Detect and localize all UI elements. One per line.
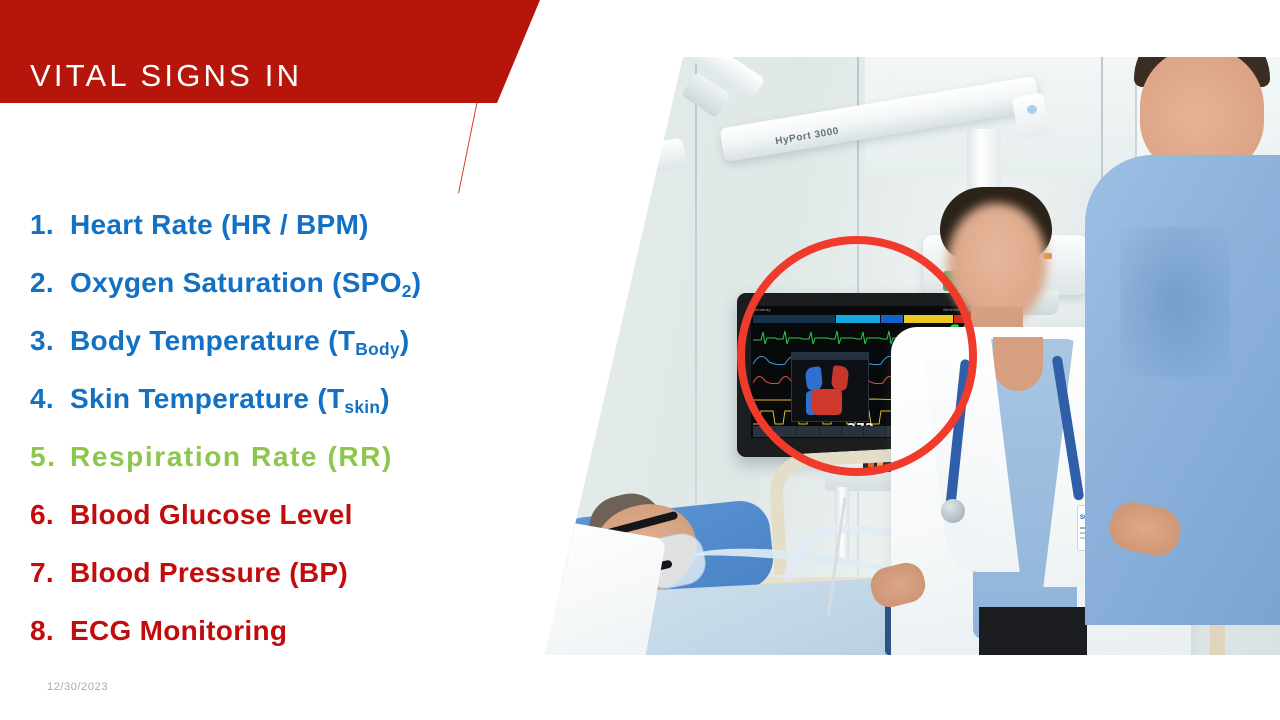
list-label-main: Skin Temperature (T bbox=[70, 383, 344, 414]
list-number: 7. bbox=[30, 544, 70, 602]
red-circle-annotation bbox=[737, 236, 977, 476]
list-label: Respiration Rate (RR) bbox=[70, 428, 393, 486]
list-number: 6. bbox=[30, 486, 70, 544]
list-number: 2. bbox=[30, 254, 70, 312]
list-label: ECG Monitoring bbox=[70, 602, 287, 660]
doctor-open-collar bbox=[993, 337, 1043, 391]
title-line-1: VITAL SIGNS IN bbox=[30, 58, 302, 93]
list-item-blood-pressure[interactable]: 7. Blood Pressure (BP) bbox=[30, 544, 550, 602]
list-label: Oxygen Saturation (SPO2) bbox=[70, 254, 421, 315]
list-label: Blood Pressure (BP) bbox=[70, 544, 348, 602]
list-item-skin-temperature[interactable]: 4. Skin Temperature (Tskin) bbox=[30, 370, 550, 428]
list-number: 5. bbox=[30, 428, 70, 486]
list-label-tail: ) bbox=[400, 325, 410, 356]
list-label: Skin Temperature (Tskin) bbox=[70, 370, 390, 431]
list-item-blood-glucose-level[interactable]: 6. Blood Glucose Level bbox=[30, 486, 550, 544]
scrubs-shading bbox=[1120, 227, 1230, 377]
list-label-subscript: 2 bbox=[402, 281, 412, 301]
list-label-tail: ) bbox=[412, 267, 422, 298]
page-title: VITAL SIGNS IN PATIENT MONITORING bbox=[30, 16, 423, 176]
list-item-oxygen-saturation[interactable]: 2. Oxygen Saturation (SPO2) bbox=[30, 254, 550, 312]
slide-date: 12/30/2023 bbox=[47, 681, 108, 693]
pendant-arm-endcap bbox=[559, 159, 569, 169]
list-label-main: Body Temperature (T bbox=[70, 325, 355, 356]
list-number: 8. bbox=[30, 602, 70, 660]
list-number: 1. bbox=[30, 196, 70, 254]
slide-root: VITAL SIGNS IN PATIENT MONITORING 1. Hea… bbox=[0, 0, 1280, 720]
list-item-respiration-rate[interactable]: 5. Respiration Rate (RR) bbox=[30, 428, 550, 486]
list-label: Body Temperature (TBody) bbox=[70, 312, 409, 373]
list-label-main: Oxygen Saturation (SPO bbox=[70, 267, 402, 298]
diagonal-accent-line bbox=[458, 100, 478, 193]
list-item-ecg-monitoring[interactable]: 8. ECG Monitoring bbox=[30, 602, 550, 660]
doctor-trousers bbox=[979, 607, 1087, 655]
list-label: Heart Rate (HR / BPM) bbox=[70, 196, 369, 254]
pendant-indicator-dot bbox=[1027, 105, 1037, 114]
list-label-subscript: skin bbox=[344, 397, 380, 417]
list-number: 3. bbox=[30, 312, 70, 370]
list-label-subscript: Body bbox=[355, 339, 400, 359]
vitals-list: 1. Heart Rate (HR / BPM) 2. Oxygen Satur… bbox=[30, 196, 550, 660]
clinician-blue-scrubs bbox=[1085, 155, 1280, 625]
foreground-clinician bbox=[1100, 57, 1280, 655]
title-line-2: PATIENT MONITORING bbox=[30, 96, 423, 136]
list-label-tail: ) bbox=[380, 383, 390, 414]
list-label: Blood Glucose Level bbox=[70, 486, 353, 544]
list-item-heart-rate[interactable]: 1. Heart Rate (HR / BPM) bbox=[30, 196, 550, 254]
stethoscope-bell bbox=[941, 499, 965, 523]
list-item-body-temperature[interactable]: 3. Body Temperature (TBody) bbox=[30, 312, 550, 370]
pendant-endcap bbox=[1012, 93, 1050, 140]
patient-gown bbox=[535, 517, 666, 655]
list-number: 4. bbox=[30, 370, 70, 428]
